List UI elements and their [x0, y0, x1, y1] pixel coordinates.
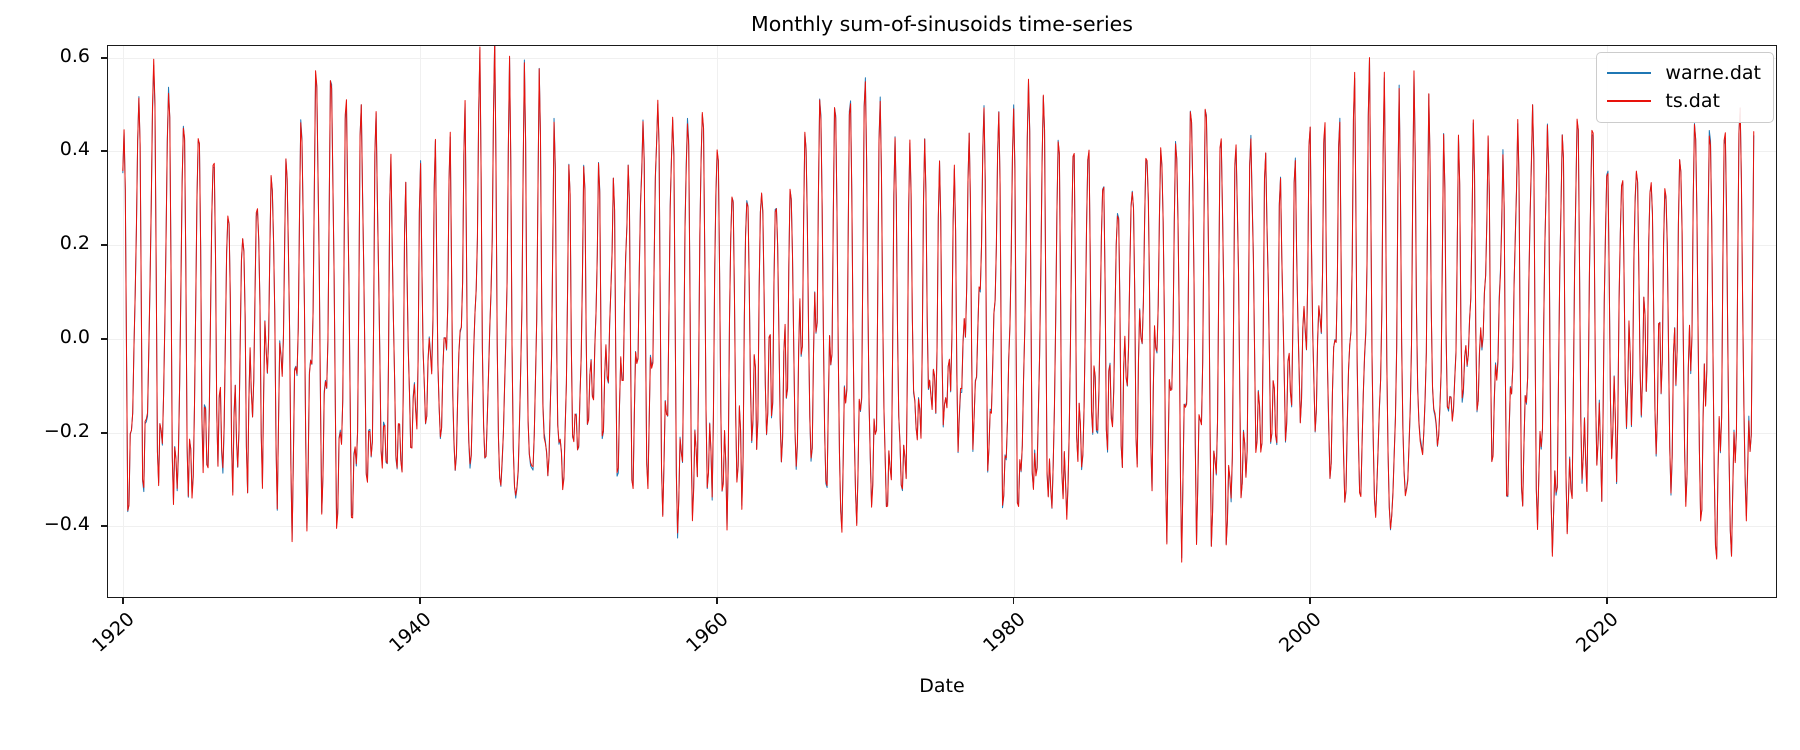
y-tick-label: 0.2 — [28, 232, 90, 254]
legend-item-ts[interactable]: ts.dat — [1607, 87, 1761, 115]
x-tick-mark — [1606, 598, 1608, 604]
y-tick-label: −0.4 — [28, 513, 90, 535]
legend-item-warne[interactable]: warne.dat — [1607, 59, 1761, 87]
legend-label-ts: ts.dat — [1665, 90, 1720, 112]
figure-canvas: Monthly sum-of-sinusoids time-series Val… — [0, 0, 1800, 750]
x-tick-label: 1920 — [82, 608, 138, 662]
x-tick-label: 1980 — [973, 608, 1029, 662]
y-tick-label: 0.4 — [28, 138, 90, 160]
x-axis-label: Date — [107, 675, 1777, 697]
x-tick-mark — [1013, 598, 1015, 604]
x-tick-mark — [1309, 598, 1311, 604]
x-tick-mark — [716, 598, 718, 604]
legend-swatch-ts — [1607, 100, 1651, 102]
y-tick-label: −0.2 — [28, 420, 90, 442]
legend-label-warne: warne.dat — [1665, 62, 1761, 84]
line-series-ts — [123, 46, 1754, 562]
y-tick-label: 0.6 — [28, 45, 90, 67]
legend-swatch-warne — [1607, 72, 1651, 74]
chart-legend[interactable]: warne.dat ts.dat — [1596, 52, 1774, 123]
plot-area — [107, 45, 1777, 598]
y-tick-label: 0.0 — [28, 326, 90, 348]
x-tick-label: 2000 — [1270, 608, 1326, 662]
chart-title: Monthly sum-of-sinusoids time-series — [107, 12, 1777, 36]
x-tick-mark — [419, 598, 421, 604]
y-axis-label: Value — [0, 238, 2, 290]
x-tick-label: 1960 — [676, 608, 732, 662]
series-plot — [108, 46, 1776, 597]
x-tick-label: 1940 — [379, 608, 435, 662]
x-tick-mark — [122, 598, 124, 604]
x-tick-label: 2020 — [1567, 608, 1623, 662]
